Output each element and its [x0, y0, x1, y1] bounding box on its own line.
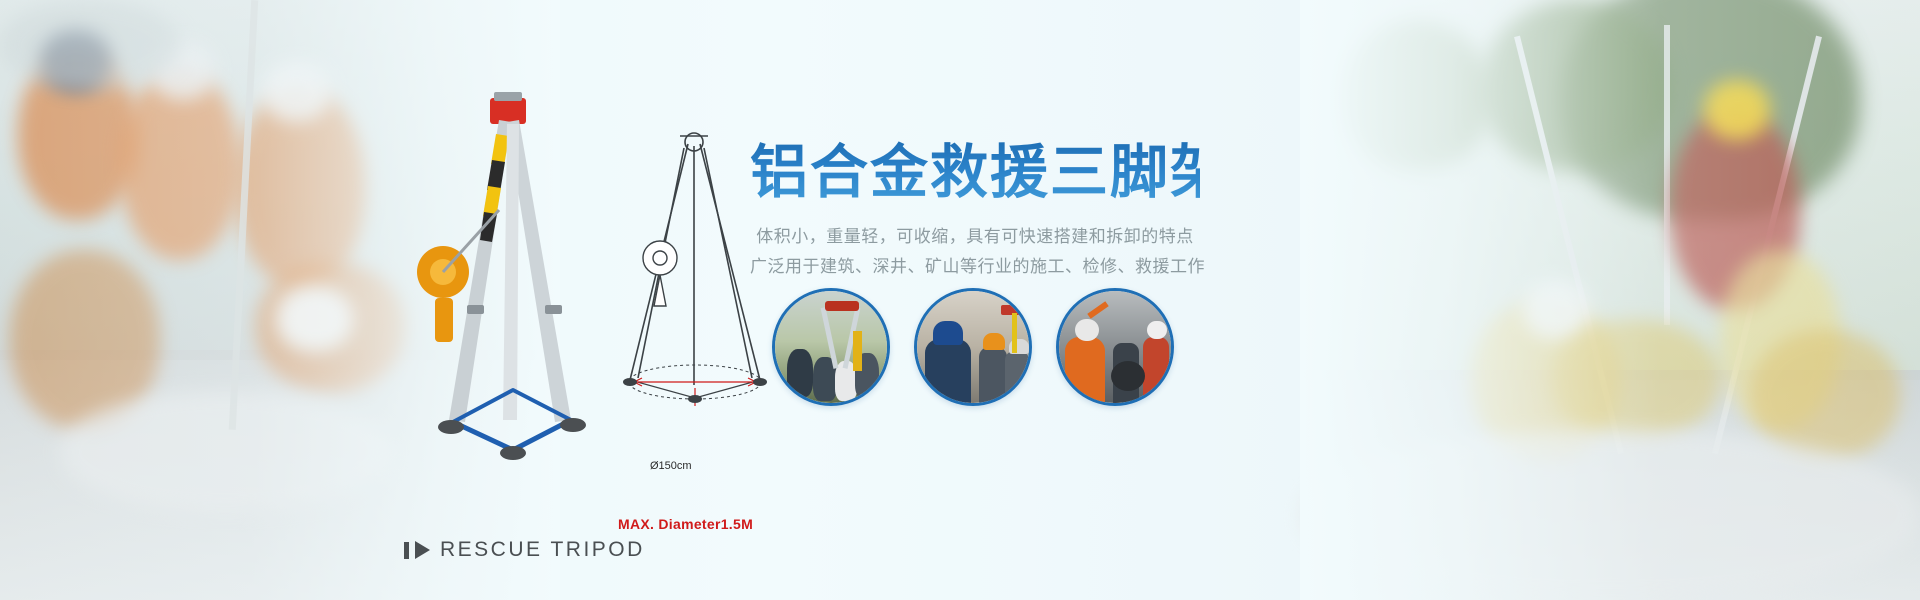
thumbnail-confined-space-rescue[interactable] — [1056, 288, 1174, 406]
headline-block: 铝合金救援三脚架 体积小，重量轻，可收缩，具有可快速搭建和拆卸的特点 广泛用于建… — [750, 140, 1200, 282]
thumbnail-field-rescue[interactable] — [772, 288, 890, 406]
max-diameter-label: MAX. Diameter1.5M — [618, 516, 753, 532]
play-triangle-icon-bar — [404, 542, 409, 559]
subtitle-line-1: 体积小，重量轻，可收缩，具有可快速搭建和拆卸的特点 — [750, 222, 1200, 252]
product-banner: Ø150cm MAX. Diameter1.5M 铝合金救援三脚架 体积小，重量… — [0, 0, 1920, 600]
right-background-photo — [1300, 0, 1920, 600]
wordmark-label: RESCUE TRIPOD — [440, 538, 645, 562]
play-triangle-icon — [415, 541, 430, 559]
thumbnail-site-inspection[interactable] — [914, 288, 1032, 406]
main-product-illustration — [395, 90, 625, 470]
diameter-label: Ø150cm — [650, 460, 692, 472]
page-title: 铝合金救援三脚架 — [750, 140, 1200, 204]
subtitle-line-2: 广泛用于建筑、深井、矿山等行业的施工、检修、救援工作 — [750, 252, 1200, 282]
thumbnail-gallery — [772, 288, 1174, 406]
rescue-tripod-wordmark: RESCUE TRIPOD — [404, 538, 645, 562]
